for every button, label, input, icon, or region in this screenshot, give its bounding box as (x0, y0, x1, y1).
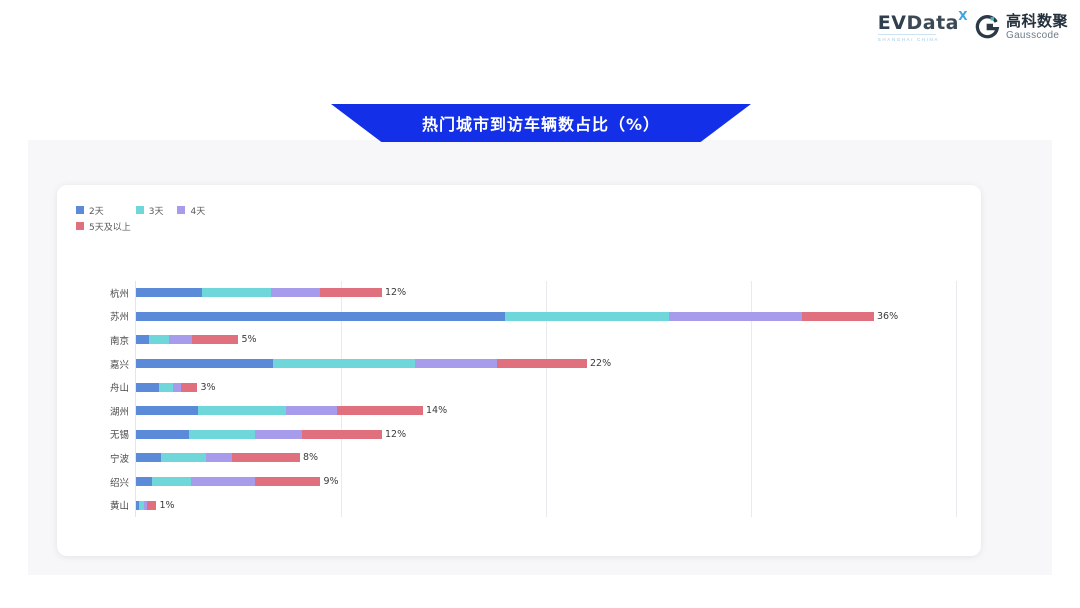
bar-value-label: 1% (160, 501, 175, 510)
category-label-杭州: 杭州 (85, 286, 129, 300)
chart-row: 舟山3% (57, 375, 981, 399)
bar-segment-3天[interactable] (189, 430, 255, 439)
bar-segment-2天[interactable] (136, 288, 202, 297)
evdata-divider (878, 34, 936, 35)
bar-segment-4天[interactable] (286, 406, 337, 415)
chart-row: 嘉兴22% (57, 352, 981, 376)
evdata-x-superscript-icon: X (958, 6, 968, 26)
bar-segment-4天[interactable] (173, 383, 181, 392)
chart-row: 黄山1% (57, 493, 981, 517)
bar-segment-3天[interactable] (273, 359, 414, 368)
bar-segment-4天[interactable] (271, 288, 320, 297)
stacked-bar[interactable] (136, 406, 423, 415)
category-label-绍兴: 绍兴 (85, 475, 129, 489)
bar-segment-5天及以上[interactable] (337, 406, 423, 415)
bar-segment-5天及以上[interactable] (802, 312, 874, 321)
bar-segment-3天[interactable] (198, 406, 286, 415)
stacked-bar[interactable] (136, 453, 300, 462)
bar-segment-4天[interactable] (415, 359, 497, 368)
evdata-logo: EVDataX shanghai china (878, 13, 959, 42)
bar-segment-2天[interactable] (136, 312, 505, 321)
chart-row: 苏州36% (57, 305, 981, 329)
bar-segment-3天[interactable] (152, 477, 191, 486)
bar-segment-4天[interactable] (669, 312, 802, 321)
bar-value-label: 5% (242, 335, 257, 344)
bar-segment-4天[interactable] (169, 335, 193, 344)
bar-value-label: 9% (324, 477, 339, 486)
bar-segment-2天[interactable] (136, 406, 198, 415)
evdata-ev-text: EV (878, 12, 907, 34)
evdata-data-text: Data (906, 12, 959, 34)
chart-row: 南京5% (57, 328, 981, 352)
bar-segment-5天及以上[interactable] (192, 335, 238, 344)
stacked-bar[interactable] (136, 335, 239, 344)
top-logo-bar: EVDataX shanghai china 高科数聚 Gausscode (0, 0, 1080, 60)
bar-segment-5天及以上[interactable] (255, 477, 321, 486)
bar-segment-5天及以上[interactable] (147, 501, 156, 510)
chart-title-banner: 热门城市到访车辆数占比（%） (331, 104, 751, 142)
bar-segment-5天及以上[interactable] (320, 288, 382, 297)
bar-segment-4天[interactable] (191, 477, 255, 486)
bar-value-label: 12% (385, 288, 406, 297)
stacked-bar[interactable] (136, 501, 157, 510)
bar-segment-2天[interactable] (136, 383, 159, 392)
category-label-宁波: 宁波 (85, 451, 129, 465)
category-label-嘉兴: 嘉兴 (85, 357, 129, 371)
chart-title: 热门城市到访车辆数占比（%） (422, 111, 660, 135)
evdata-wordmark: EVDataX (878, 13, 959, 33)
stacked-bar[interactable] (136, 288, 382, 297)
category-label-舟山: 舟山 (85, 380, 129, 394)
bar-segment-5天及以上[interactable] (302, 430, 382, 439)
bar-value-label: 8% (303, 453, 318, 462)
bar-segment-2天[interactable] (136, 359, 273, 368)
chart-rows: 杭州12%苏州36%南京5%嘉兴22%舟山3%湖州14%无锡12%宁波8%绍兴9… (57, 281, 981, 517)
gausscode-text: 高科数聚 Gausscode (1006, 14, 1068, 41)
bar-segment-2天[interactable] (136, 430, 189, 439)
evdata-tagline: shanghai china (878, 37, 939, 42)
bar-segment-3天[interactable] (161, 453, 206, 462)
bar-value-label: 3% (201, 383, 216, 392)
bar-segment-3天[interactable] (505, 312, 669, 321)
bar-segment-2天[interactable] (136, 335, 149, 344)
chart-row: 宁波8% (57, 446, 981, 470)
bar-value-label: 14% (426, 406, 447, 415)
bar-segment-4天[interactable] (255, 430, 302, 439)
bar-value-label: 36% (877, 312, 898, 321)
bar-segment-3天[interactable] (159, 383, 173, 392)
bar-value-label: 22% (590, 359, 611, 368)
logo-group: EVDataX shanghai china 高科数聚 Gausscode (878, 13, 1068, 42)
chart-plot-area: 热度城市排名（从上到下） 杭州12%苏州36%南京5%嘉兴22%舟山3%湖州14… (57, 185, 981, 556)
stacked-bar[interactable] (136, 359, 587, 368)
stacked-bar[interactable] (136, 430, 382, 439)
bar-segment-5天及以上[interactable] (497, 359, 587, 368)
bar-segment-5天及以上[interactable] (232, 453, 300, 462)
chart-row: 无锡12% (57, 423, 981, 447)
category-label-南京: 南京 (85, 333, 129, 347)
bar-value-label: 12% (385, 430, 406, 439)
chart-row: 绍兴9% (57, 470, 981, 494)
bar-segment-3天[interactable] (149, 335, 168, 344)
stacked-bar[interactable] (136, 477, 321, 486)
gausscode-g-mark-icon (975, 15, 1000, 40)
stacked-bar[interactable] (136, 383, 198, 392)
category-label-黄山: 黄山 (85, 498, 129, 512)
category-label-无锡: 无锡 (85, 427, 129, 441)
gausscode-en-name: Gausscode (1006, 31, 1068, 41)
category-label-湖州: 湖州 (85, 404, 129, 418)
category-label-苏州: 苏州 (85, 309, 129, 323)
bar-segment-2天[interactable] (136, 477, 152, 486)
stacked-bar[interactable] (136, 312, 874, 321)
gausscode-logo: 高科数聚 Gausscode (975, 14, 1068, 41)
chart-card: 2天 3天 4天 5天及以上 热度城市排名（从上到下） 杭州12%苏州36%南京… (57, 185, 981, 556)
bar-segment-4天[interactable] (206, 453, 233, 462)
bar-segment-5天及以上[interactable] (181, 383, 197, 392)
chart-row: 杭州12% (57, 281, 981, 305)
chart-row: 湖州14% (57, 399, 981, 423)
bar-segment-3天[interactable] (202, 288, 272, 297)
bar-segment-2天[interactable] (136, 453, 161, 462)
gausscode-cn-name: 高科数聚 (1006, 14, 1068, 29)
